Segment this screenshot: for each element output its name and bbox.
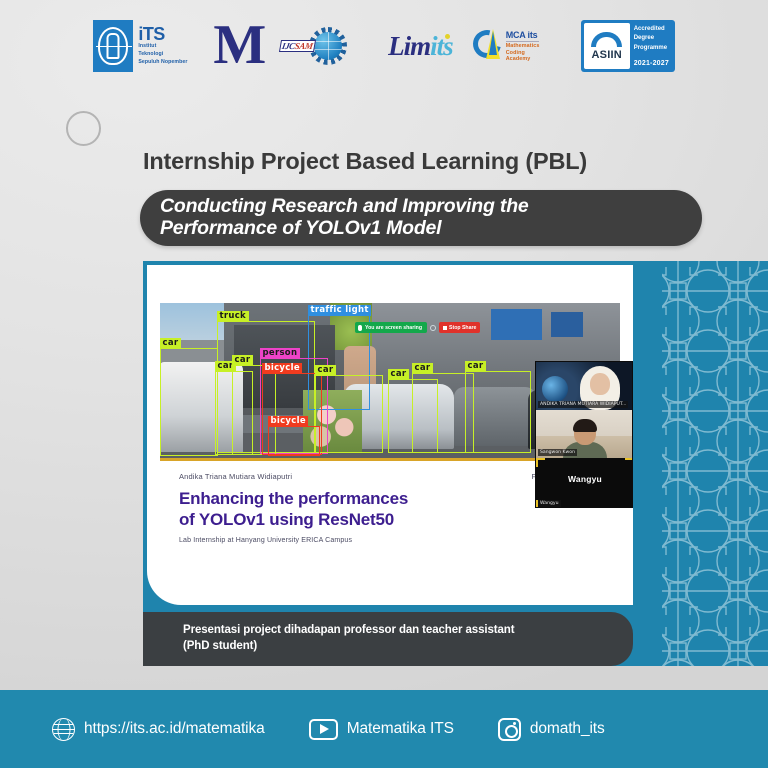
footer-youtube-label: Matematika ITS (347, 720, 454, 738)
detection-label: car (412, 363, 433, 374)
footer-instagram[interactable]: domath_its (498, 718, 605, 741)
detection-label: bicycle (268, 416, 308, 427)
asiin-accreditation-text: Accredited Degree Programme (634, 25, 672, 53)
detection-label: bicycle (262, 363, 302, 374)
limits-dot-icon (445, 34, 450, 39)
share-controls-icon[interactable] (430, 325, 436, 331)
youtube-icon (309, 719, 338, 740)
its-emblem-icon (93, 20, 133, 72)
active-speaker-bracket-icon (536, 458, 545, 467)
footer-website-label: https://its.ac.id/matematika (84, 720, 265, 738)
footer-website[interactable]: https://its.ac.id/matematika (52, 718, 265, 741)
poster-canvas: iTS Institut Teknologi Sepuluh Nopember … (0, 0, 768, 768)
stop-share-button[interactable]: Stop Share (439, 322, 480, 333)
asiin-logo: ASIIN Accredited Degree Programme 2021-2… (581, 20, 675, 72)
detection-box-car: car (315, 375, 383, 453)
stop-square-icon (443, 326, 447, 330)
footer-youtube[interactable]: Matematika ITS (309, 719, 454, 740)
page-title: Internship Project Based Learning (PBL) (143, 148, 703, 175)
its-abbreviation: iTS (138, 25, 187, 43)
detection-box-car: car (465, 371, 531, 453)
screen-sharing-label: You are screen sharing (365, 325, 422, 331)
detection-label: traffic light (308, 305, 371, 316)
tile-andika-name: ANDIKA TRIANA MUTIARA WIDIAPUT... (538, 401, 628, 408)
mca-title: MCA its (506, 30, 540, 40)
tile-teacher[interactable]: Sangwon Kwon (536, 410, 633, 458)
slide-subheading: Lab Internship at Hanyang University ERI… (179, 537, 352, 544)
tile-wangyu-center-name: Wangyu (536, 474, 633, 484)
mca-its-logo: MCA its Mathematics Coding Academy (473, 26, 565, 66)
asiin-wordmark: ASIIN (592, 49, 622, 61)
tile-andika[interactable]: ANDIKA TRIANA MUTIARA WIDIAPUT... (536, 362, 633, 410)
footer-bar: https://its.ac.id/matematika Matematika … (0, 690, 768, 768)
slide-heading: Enhancing the performances of YOLOv1 usi… (179, 489, 408, 530)
detection-label: person (260, 348, 300, 359)
detection-label: car (388, 369, 409, 380)
detection-label: car (160, 338, 181, 349)
institution-logo-strip: iTS Institut Teknologi Sepuluh Nopember … (0, 0, 768, 92)
microphone-icon (358, 325, 362, 331)
active-speaker-bracket-icon (625, 458, 633, 467)
ornamental-lattice-pattern (648, 261, 768, 666)
ijcsam-wordmark: IJCSAM (279, 40, 316, 52)
footer-instagram-label: domath_its (530, 720, 605, 738)
active-speaker-bracket-icon (536, 500, 545, 508)
asiin-arch-icon (591, 32, 622, 47)
detection-box-bicycle: bicycle (268, 426, 320, 456)
caption-bar: Presentasi project dihadapan professor d… (143, 612, 633, 666)
limits-logo: Limits (388, 31, 457, 62)
asiin-validity-years: 2021-2027 (634, 60, 672, 67)
ijcsam-logo: IJCSAM (280, 24, 372, 68)
detection-label: truck (217, 311, 249, 322)
subtitle-text: Conducting Research and Improving the Pe… (140, 196, 543, 240)
detection-box-car: car (160, 348, 218, 456)
mca-subtitle: Mathematics Coding Academy (506, 43, 540, 62)
slide-author: Andika Triana Mutiara Widiaputri (179, 472, 292, 481)
zoom-screenshare-toolbar[interactable]: You are screen sharing Stop Share (355, 322, 480, 333)
decorative-circle (66, 111, 101, 146)
its-logo: iTS Institut Teknologi Sepuluh Nopember (93, 20, 197, 72)
matematika-m-logo: M (213, 23, 264, 69)
screen-sharing-indicator: You are screen sharing (355, 322, 427, 333)
stop-share-label: Stop Share (449, 325, 476, 331)
detection-label: car (465, 361, 486, 372)
detection-label: car (315, 365, 336, 376)
zoom-participant-tiles[interactable]: ANDIKA TRIANA MUTIARA WIDIAPUT... Sangwo… (535, 361, 633, 508)
globe-icon (52, 718, 75, 741)
instagram-icon (498, 718, 521, 741)
limits-head: Lim (388, 31, 430, 61)
subtitle-pill: Conducting Research and Improving the Pe… (140, 190, 702, 246)
mca-monogram-icon (473, 29, 505, 63)
detection-label: car (232, 355, 253, 366)
tile-wangyu[interactable]: Wangyu Wangyu (536, 458, 633, 508)
active-speaker-bracket-icon (625, 500, 633, 508)
tile-teacher-name: Sangwon Kwon (538, 449, 577, 456)
ijcsam-word-b: SAM (294, 41, 314, 51)
its-fullname: Institut Teknologi Sepuluh Nopember (138, 43, 187, 66)
caption-text: Presentasi project dihadapan professor d… (143, 623, 532, 654)
